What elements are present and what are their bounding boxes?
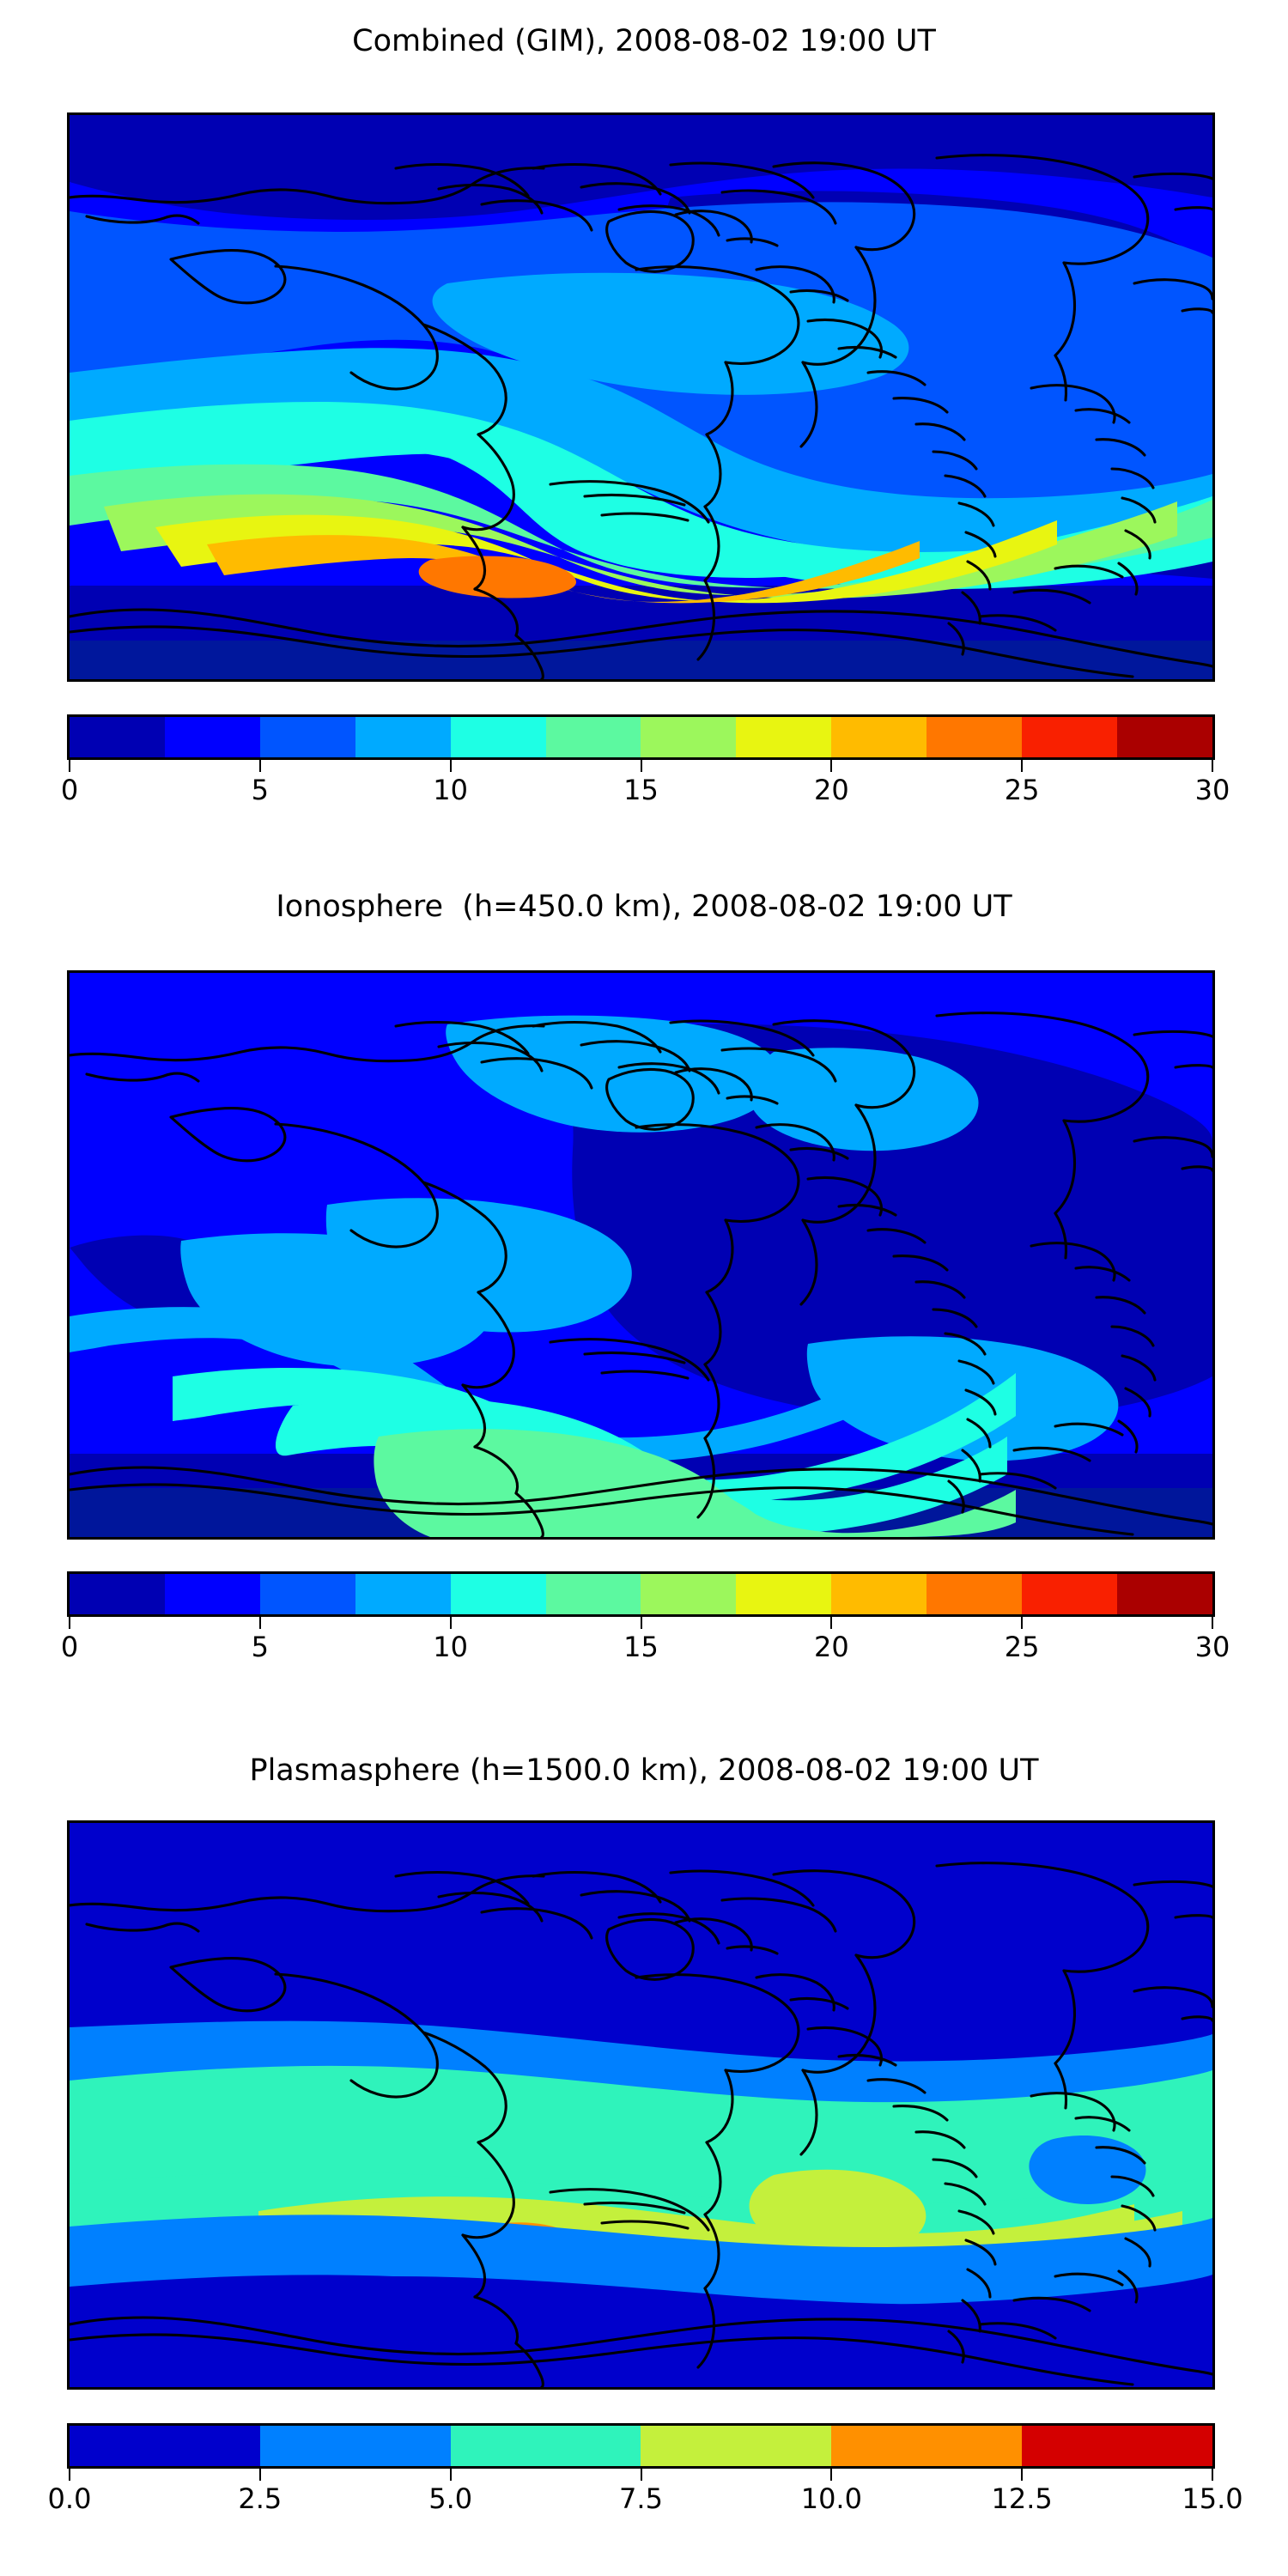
colorbar-tick [830, 760, 832, 772]
colorbar-band [451, 2426, 641, 2466]
figure-canvas: Combined (GIM), 2008-08-02 19:00 UT [0, 0, 1288, 2576]
colorbar-tick [69, 1617, 70, 1629]
colorbar-tick [1212, 760, 1213, 772]
colorbar-tick-label: 30 [1195, 1631, 1230, 1663]
colorbar-band [451, 717, 546, 757]
colorbar-band [546, 717, 641, 757]
colorbar-combined-gim: 051015202530 [67, 714, 1210, 813]
map-plot-area-combined [67, 112, 1215, 682]
colorbar-band [260, 1574, 355, 1614]
colorbar-tick-label: 10 [433, 1631, 468, 1663]
colorbar-tick [830, 1617, 832, 1629]
colorbar-band [355, 717, 451, 757]
colorbar-tick [830, 2469, 832, 2481]
map-plot-area-plasmasphere [67, 1820, 1215, 2390]
colorbar-band [1022, 1574, 1117, 1614]
colorbar-tick-label: 15 [623, 774, 659, 806]
colorbar-strip-combined [67, 714, 1215, 760]
colorbar-band [165, 1574, 260, 1614]
colorbar-tick [69, 2469, 70, 2481]
colorbar-tick [1212, 2469, 1213, 2481]
colorbar-tick [450, 760, 452, 772]
colorbar-tick [1021, 760, 1023, 772]
colorbar-band [451, 1574, 546, 1614]
panel-title-ionosphere: Ionosphere (h=450.0 km), 2008-08-02 19:0… [0, 890, 1288, 924]
colorbar-tick-label: 25 [1005, 1631, 1040, 1663]
panel-title-plasmasphere: Plasmasphere (h=1500.0 km), 2008-08-02 1… [0, 1753, 1288, 1788]
map-plasmasphere [67, 1820, 1210, 2390]
colorbar-tick [450, 2469, 452, 2481]
colorbar-tick [641, 2469, 642, 2481]
colorbar-band [260, 717, 355, 757]
colorbar-axis-combined: 051015202530 [67, 760, 1215, 813]
panel-title-combined: Combined (GIM), 2008-08-02 19:00 UT [0, 24, 1288, 58]
contour-map-combined [70, 115, 1212, 679]
colorbar-tick [641, 1617, 642, 1629]
colorbar-band [70, 1574, 165, 1614]
colorbar-tick-label: 5.0 [428, 2482, 472, 2515]
colorbar-tick-label: 12.5 [992, 2482, 1053, 2515]
colorbar-band [165, 717, 260, 757]
colorbar-band [1117, 1574, 1212, 1614]
colorbar-tick [259, 1617, 261, 1629]
colorbar-tick-label: 20 [814, 1631, 849, 1663]
colorbar-band [70, 2426, 260, 2466]
colorbar-band [1022, 717, 1117, 757]
colorbar-band [641, 2426, 831, 2466]
colorbar-band [736, 717, 831, 757]
colorbar-tick-label: 0.0 [48, 2482, 92, 2515]
panel-ionosphere: Ionosphere (h=450.0 km), 2008-08-02 19:0… [0, 890, 1288, 924]
colorbar-tick-label: 5 [252, 1631, 269, 1663]
colorbar-band [641, 717, 736, 757]
colorbar-plasmasphere: 0.02.55.07.510.012.515.0 [67, 2423, 1210, 2522]
colorbar-band [355, 1574, 451, 1614]
colorbar-tick-label: 10 [433, 774, 468, 806]
colorbar-tick-label: 0 [61, 774, 78, 806]
colorbar-band [1022, 2426, 1212, 2466]
colorbar-tick [450, 1617, 452, 1629]
colorbar-band [831, 2426, 1022, 2466]
colorbar-tick-label: 0 [61, 1631, 78, 1663]
colorbar-tick-label: 2.5 [238, 2482, 282, 2515]
colorbar-band [927, 1574, 1022, 1614]
colorbar-band [1117, 717, 1212, 757]
colorbar-tick [259, 760, 261, 772]
colorbar-band [70, 717, 165, 757]
colorbar-tick [1021, 1617, 1023, 1629]
map-plot-area-ionosphere [67, 970, 1215, 1540]
colorbar-tick [641, 760, 642, 772]
panel-plasmasphere: Plasmasphere (h=1500.0 km), 2008-08-02 1… [0, 1753, 1288, 1788]
colorbar-tick [1212, 1617, 1213, 1629]
colorbar-tick-label: 20 [814, 774, 849, 806]
colorbar-tick-label: 15.0 [1182, 2482, 1242, 2515]
colorbar-strip-ionosphere [67, 1571, 1215, 1617]
colorbar-band [831, 1574, 927, 1614]
colorbar-tick-label: 7.5 [619, 2482, 663, 2515]
colorbar-tick-label: 10.0 [801, 2482, 862, 2515]
colorbar-band [260, 2426, 451, 2466]
colorbar-tick-label: 25 [1005, 774, 1040, 806]
colorbar-tick-label: 15 [623, 1631, 659, 1663]
colorbar-band [546, 1574, 641, 1614]
colorbar-band [641, 1574, 736, 1614]
colorbar-tick [1021, 2469, 1023, 2481]
colorbar-band [736, 1574, 831, 1614]
colorbar-axis-plasmasphere: 0.02.55.07.510.012.515.0 [67, 2469, 1215, 2522]
colorbar-axis-ionosphere: 051015202530 [67, 1617, 1215, 1670]
colorbar-tick [69, 760, 70, 772]
contour-map-plasmasphere [70, 1823, 1212, 2387]
colorbar-tick [259, 2469, 261, 2481]
panel-combined-gim: Combined (GIM), 2008-08-02 19:00 UT [0, 24, 1288, 58]
map-ionosphere [67, 970, 1210, 1540]
contour-map-ionosphere [70, 973, 1212, 1537]
colorbar-ionosphere: 051015202530 [67, 1571, 1210, 1670]
colorbar-strip-plasmasphere [67, 2423, 1215, 2469]
colorbar-tick-label: 5 [252, 774, 269, 806]
colorbar-band [927, 717, 1022, 757]
map-combined-gim [67, 112, 1210, 682]
colorbar-tick-label: 30 [1195, 774, 1230, 806]
colorbar-band [831, 717, 927, 757]
